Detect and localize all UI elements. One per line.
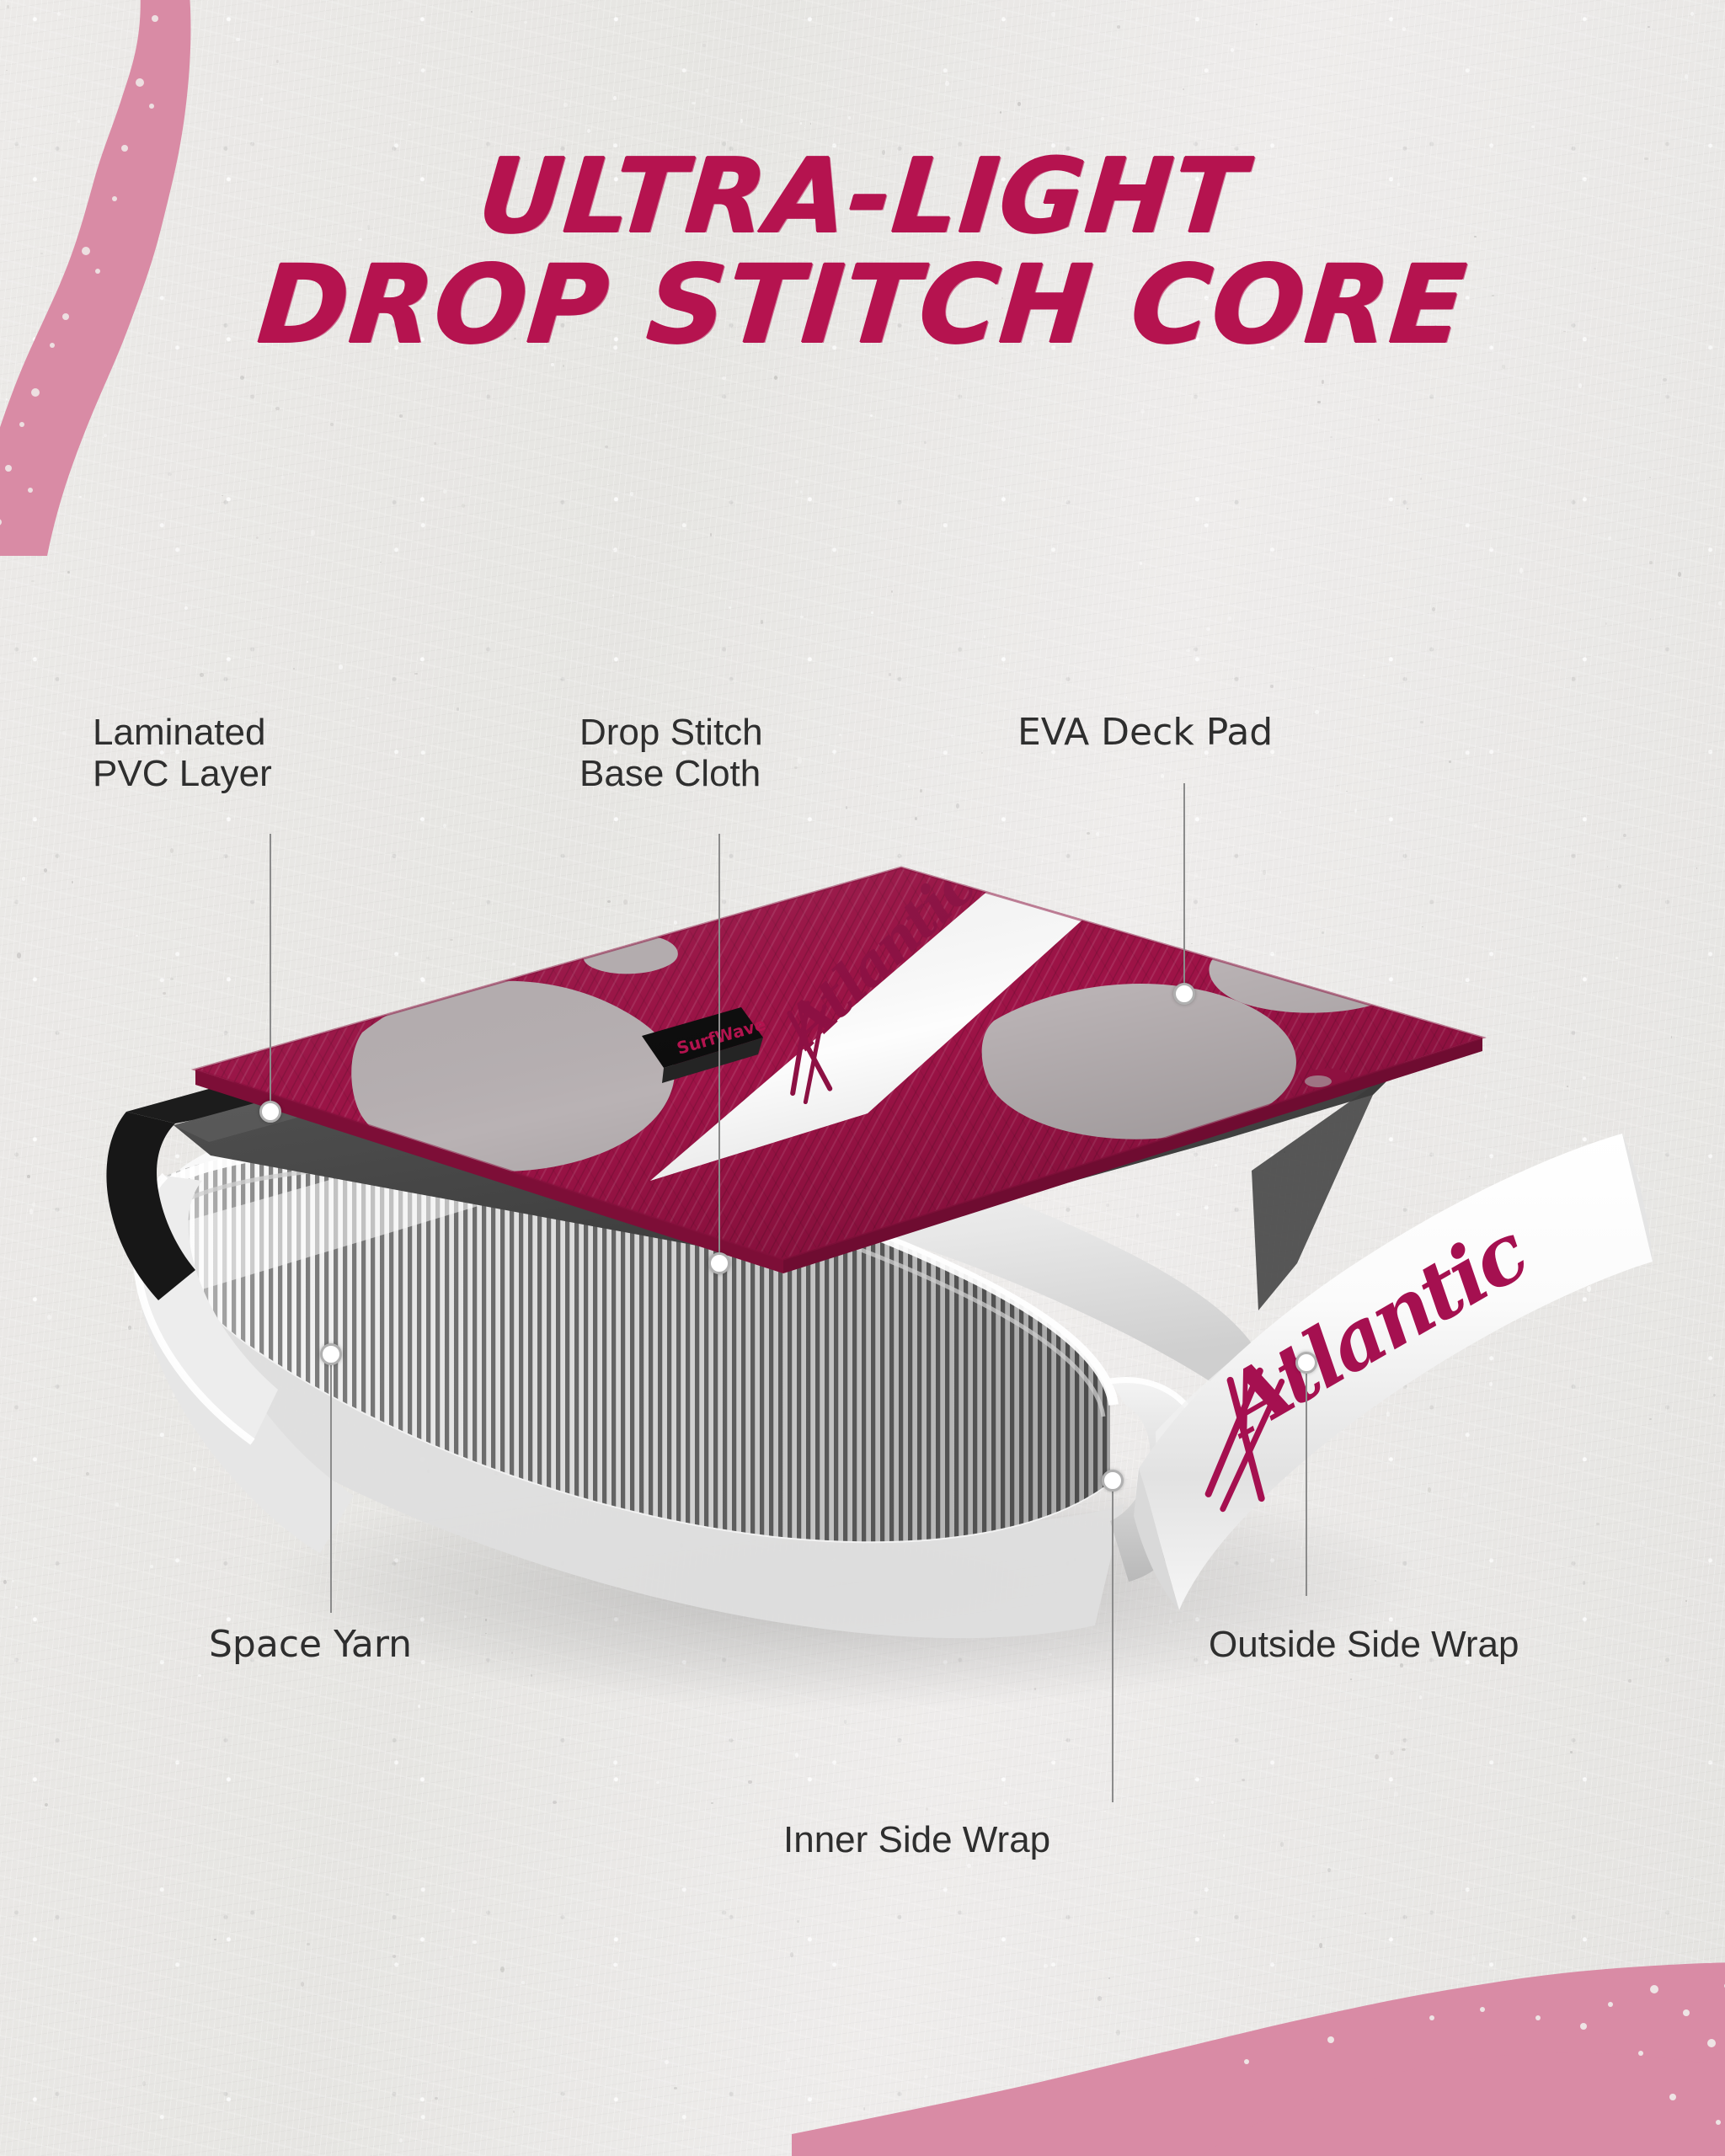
callout-dot-laminated-pvc-layer[interactable] bbox=[259, 1101, 281, 1123]
leader-line-inner-side-wrap bbox=[1112, 1491, 1114, 1802]
callout-label-outside-side-wrap: Outside Side Wrap bbox=[1209, 1624, 1519, 1665]
leader-line-space-yarn bbox=[330, 1364, 332, 1613]
leader-line-outside-side-wrap bbox=[1306, 1373, 1307, 1596]
leader-line-laminated-pvc-layer bbox=[270, 834, 271, 1112]
callout-dot-eva-deck-pad[interactable] bbox=[1173, 983, 1195, 1005]
leader-line-eva-deck-pad bbox=[1183, 783, 1185, 994]
callout-dot-inner-side-wrap[interactable] bbox=[1102, 1470, 1124, 1492]
page-title: ULTRA-LIGHT DROP STITCH CORE bbox=[0, 148, 1725, 356]
callout-label-laminated-pvc-layer: Laminated PVC Layer bbox=[93, 712, 272, 795]
callout-label-inner-side-wrap: Inner Side Wrap bbox=[783, 1819, 1050, 1860]
title-line-2: DROP STITCH CORE bbox=[0, 254, 1725, 357]
callout-label-space-yarn: Space Yarn bbox=[209, 1624, 412, 1665]
callout-dot-space-yarn[interactable] bbox=[320, 1343, 342, 1365]
callout-label-drop-stitch-base-cloth: Drop Stitch Base Cloth bbox=[579, 712, 763, 795]
callout-label-eva-deck-pad: EVA Deck Pad bbox=[1017, 712, 1273, 753]
infographic-canvas: Atlantic bbox=[0, 0, 1725, 2156]
leader-line-drop-stitch-base-cloth bbox=[718, 834, 720, 1263]
title-line-1: ULTRA-LIGHT bbox=[0, 148, 1725, 246]
callout-dot-outside-side-wrap[interactable] bbox=[1295, 1352, 1317, 1374]
callout-dot-drop-stitch-base-cloth[interactable] bbox=[708, 1252, 730, 1274]
